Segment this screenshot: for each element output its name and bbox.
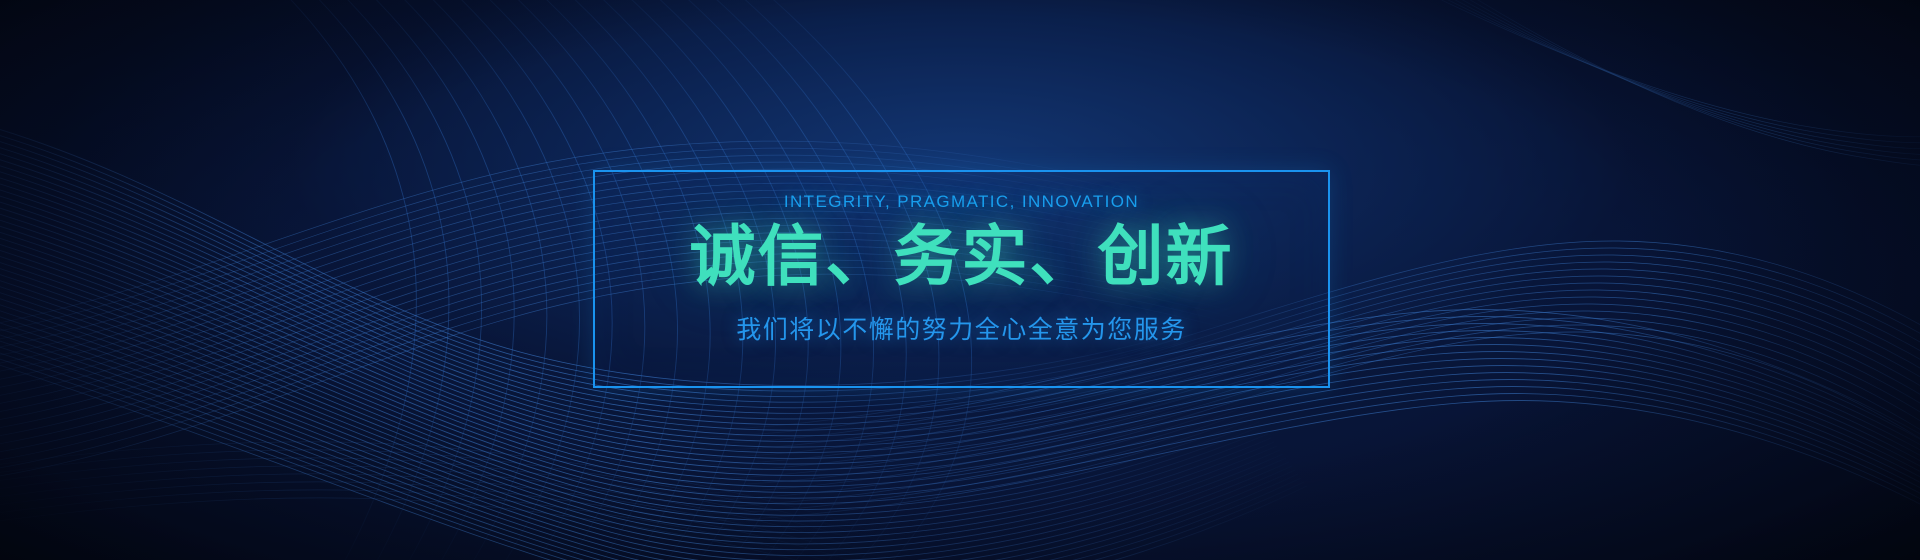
hero-banner: INTEGRITY, PRAGMATIC, INNOVATION 诚信、务实、创… bbox=[0, 0, 1920, 560]
slogan-headline: 诚信、务实、创新 bbox=[690, 218, 1234, 296]
slogan-eyebrow-english: INTEGRITY, PRAGMATIC, INNOVATION bbox=[784, 192, 1139, 212]
slogan-frame: INTEGRITY, PRAGMATIC, INNOVATION 诚信、务实、创… bbox=[593, 170, 1330, 388]
slogan-tagline: 我们将以不懈的努力全心全意为您服务 bbox=[736, 310, 1187, 346]
